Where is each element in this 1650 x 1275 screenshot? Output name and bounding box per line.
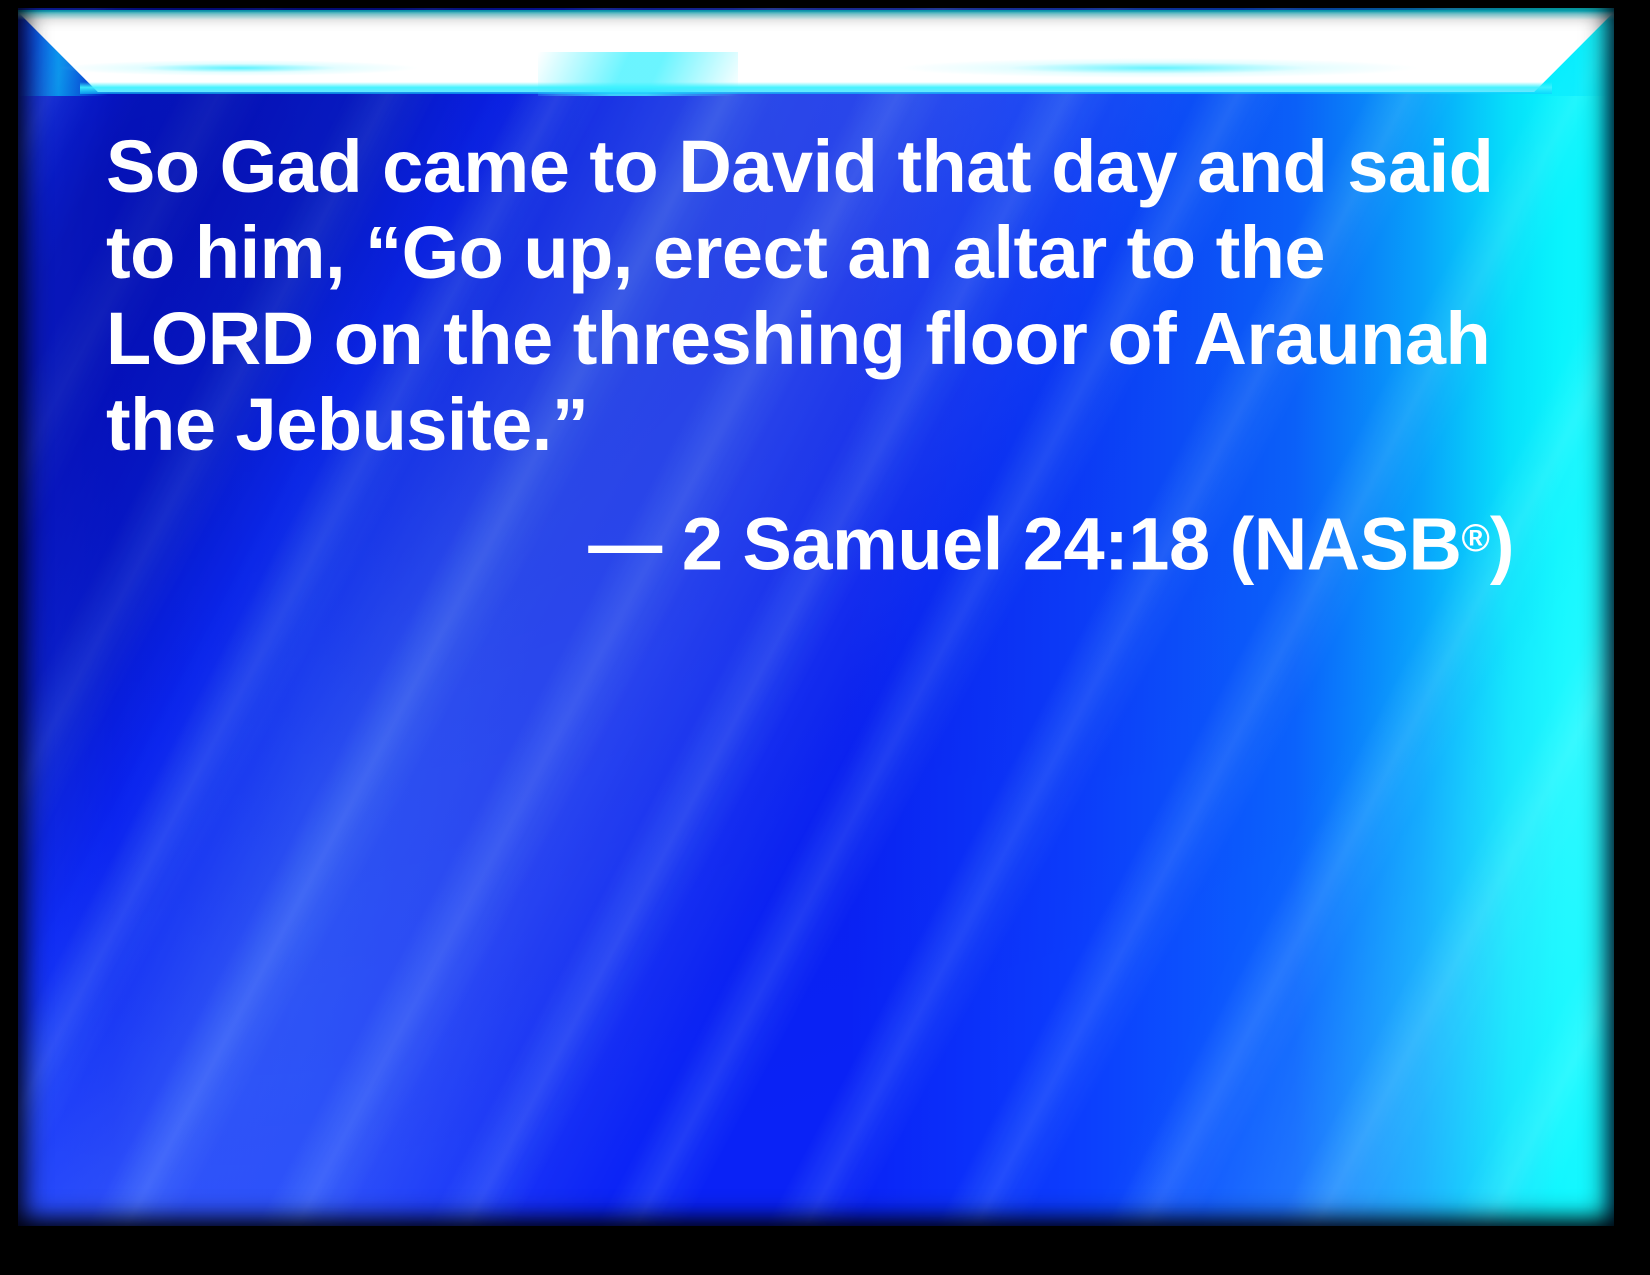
attribution-translation-open: (NASB: [1230, 502, 1462, 585]
attribution-reference: 2 Samuel 24:18: [682, 502, 1210, 585]
header-band-top-edge-glow: [18, 10, 1614, 20]
verse-text: So Gad came to David that day and said t…: [106, 124, 1516, 468]
registered-trademark-icon: ®: [1461, 517, 1489, 560]
header-band: [18, 8, 1614, 96]
slide-canvas: So Gad came to David that day and said t…: [18, 8, 1614, 1226]
header-band-shape: [18, 12, 1614, 92]
attribution-translation-close: ): [1490, 502, 1514, 585]
header-band-wisp-left: [58, 60, 418, 76]
verse-slide: So Gad came to David that day and said t…: [0, 0, 1650, 1275]
header-band-bottom-edge-glow: [80, 82, 1552, 94]
header-band-wisp-right: [898, 58, 1418, 78]
attribution-dash: —: [588, 502, 662, 585]
verse-text-block: So Gad came to David that day and said t…: [106, 124, 1516, 587]
verse-attribution: — 2 Samuel 24:18 (NASB®): [106, 496, 1516, 587]
